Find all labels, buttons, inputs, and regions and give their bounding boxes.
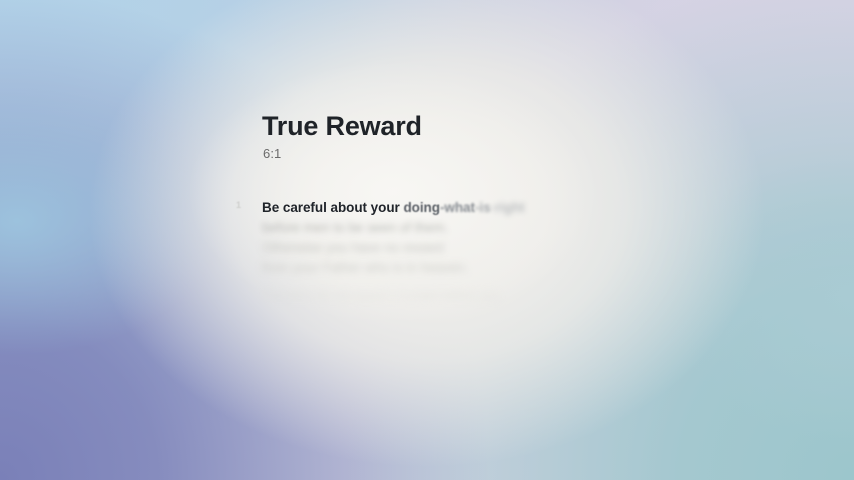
passage-line-1: Be careful about your doing-what-is-righ… <box>262 198 782 218</box>
passage-line-1-segment-5: -right <box>491 200 525 215</box>
passage-line-3: Otherwise you have no reward <box>262 238 782 258</box>
passage-line-5: Therefore do not sound a trumpet before … <box>262 285 782 305</box>
verse-block: 1 Be careful about your doing-what-is-ri… <box>262 198 782 305</box>
reading-view: True Reward 6:1 1 Be careful about your … <box>0 0 854 480</box>
passage-line-1-segment-1: Be careful about your <box>262 200 403 215</box>
passage-reference: 6:1 <box>263 145 281 162</box>
passage-line-4: from your Father who is in heaven. <box>262 258 782 278</box>
passage-content: True Reward 6:1 1 Be careful about your … <box>262 0 782 480</box>
passage-line-1-segment-3: -what <box>440 200 475 215</box>
passage-line-2: before men to be seen of them. <box>262 218 782 238</box>
passage-line-1-segment-2: doing <box>403 200 440 215</box>
passage-line-1-segment-4: -is <box>475 200 491 215</box>
verse-number-marker: 1 <box>236 199 241 211</box>
page-title: True Reward <box>262 110 422 143</box>
